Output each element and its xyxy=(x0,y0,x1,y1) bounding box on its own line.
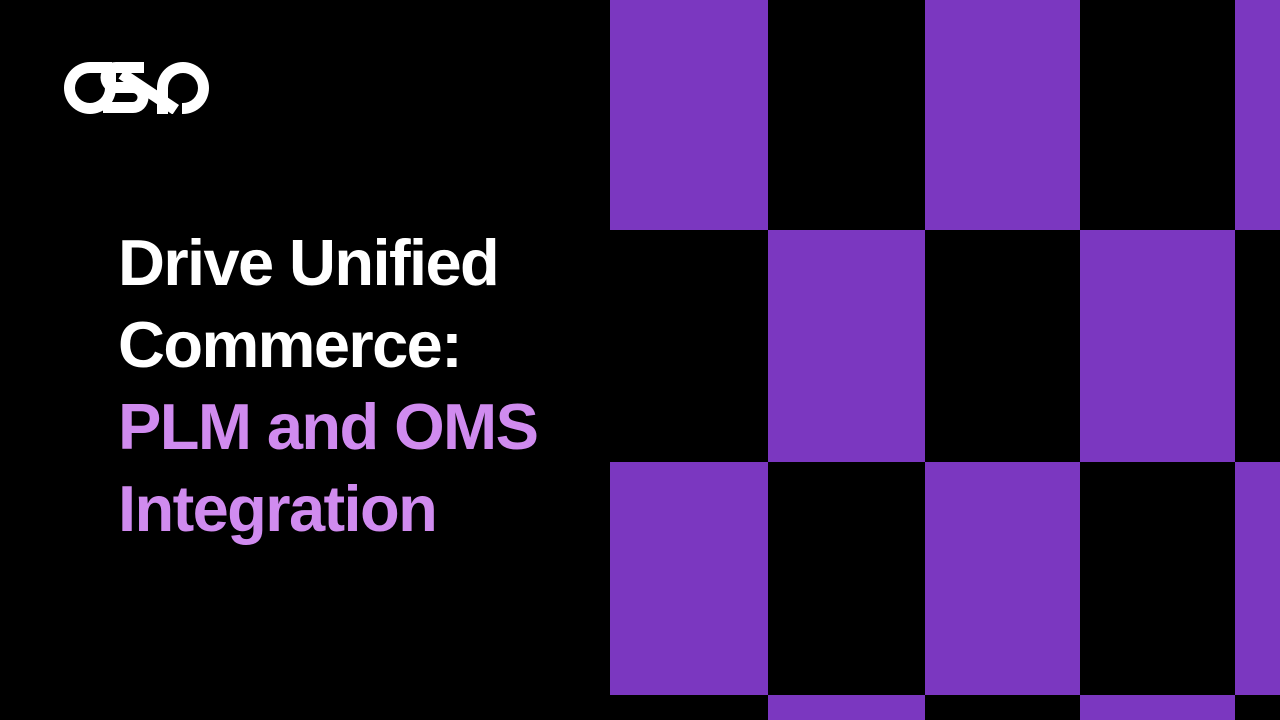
checker-cell xyxy=(1080,695,1235,720)
headline-line-1: Drive Unified xyxy=(118,222,638,304)
checkerboard-pattern xyxy=(610,0,1280,720)
checker-cell xyxy=(768,230,925,462)
checker-cell xyxy=(1235,462,1280,695)
checker-cell xyxy=(1235,0,1280,230)
checker-cell xyxy=(925,0,1080,230)
headline-line-2: Commerce: xyxy=(118,304,638,386)
checker-cell xyxy=(1080,230,1235,462)
presentation-slide: Drive Unified Commerce: PLM and OMS Inte… xyxy=(0,0,1280,720)
osa-logo[interactable] xyxy=(50,52,220,114)
checker-cell xyxy=(610,0,768,230)
checker-cell xyxy=(925,462,1080,695)
checker-cell xyxy=(768,695,925,720)
headline-line-4: Integration xyxy=(118,468,638,550)
headline-line-3: PLM and OMS xyxy=(118,386,638,468)
headline-block: Drive Unified Commerce: PLM and OMS Inte… xyxy=(118,222,638,550)
